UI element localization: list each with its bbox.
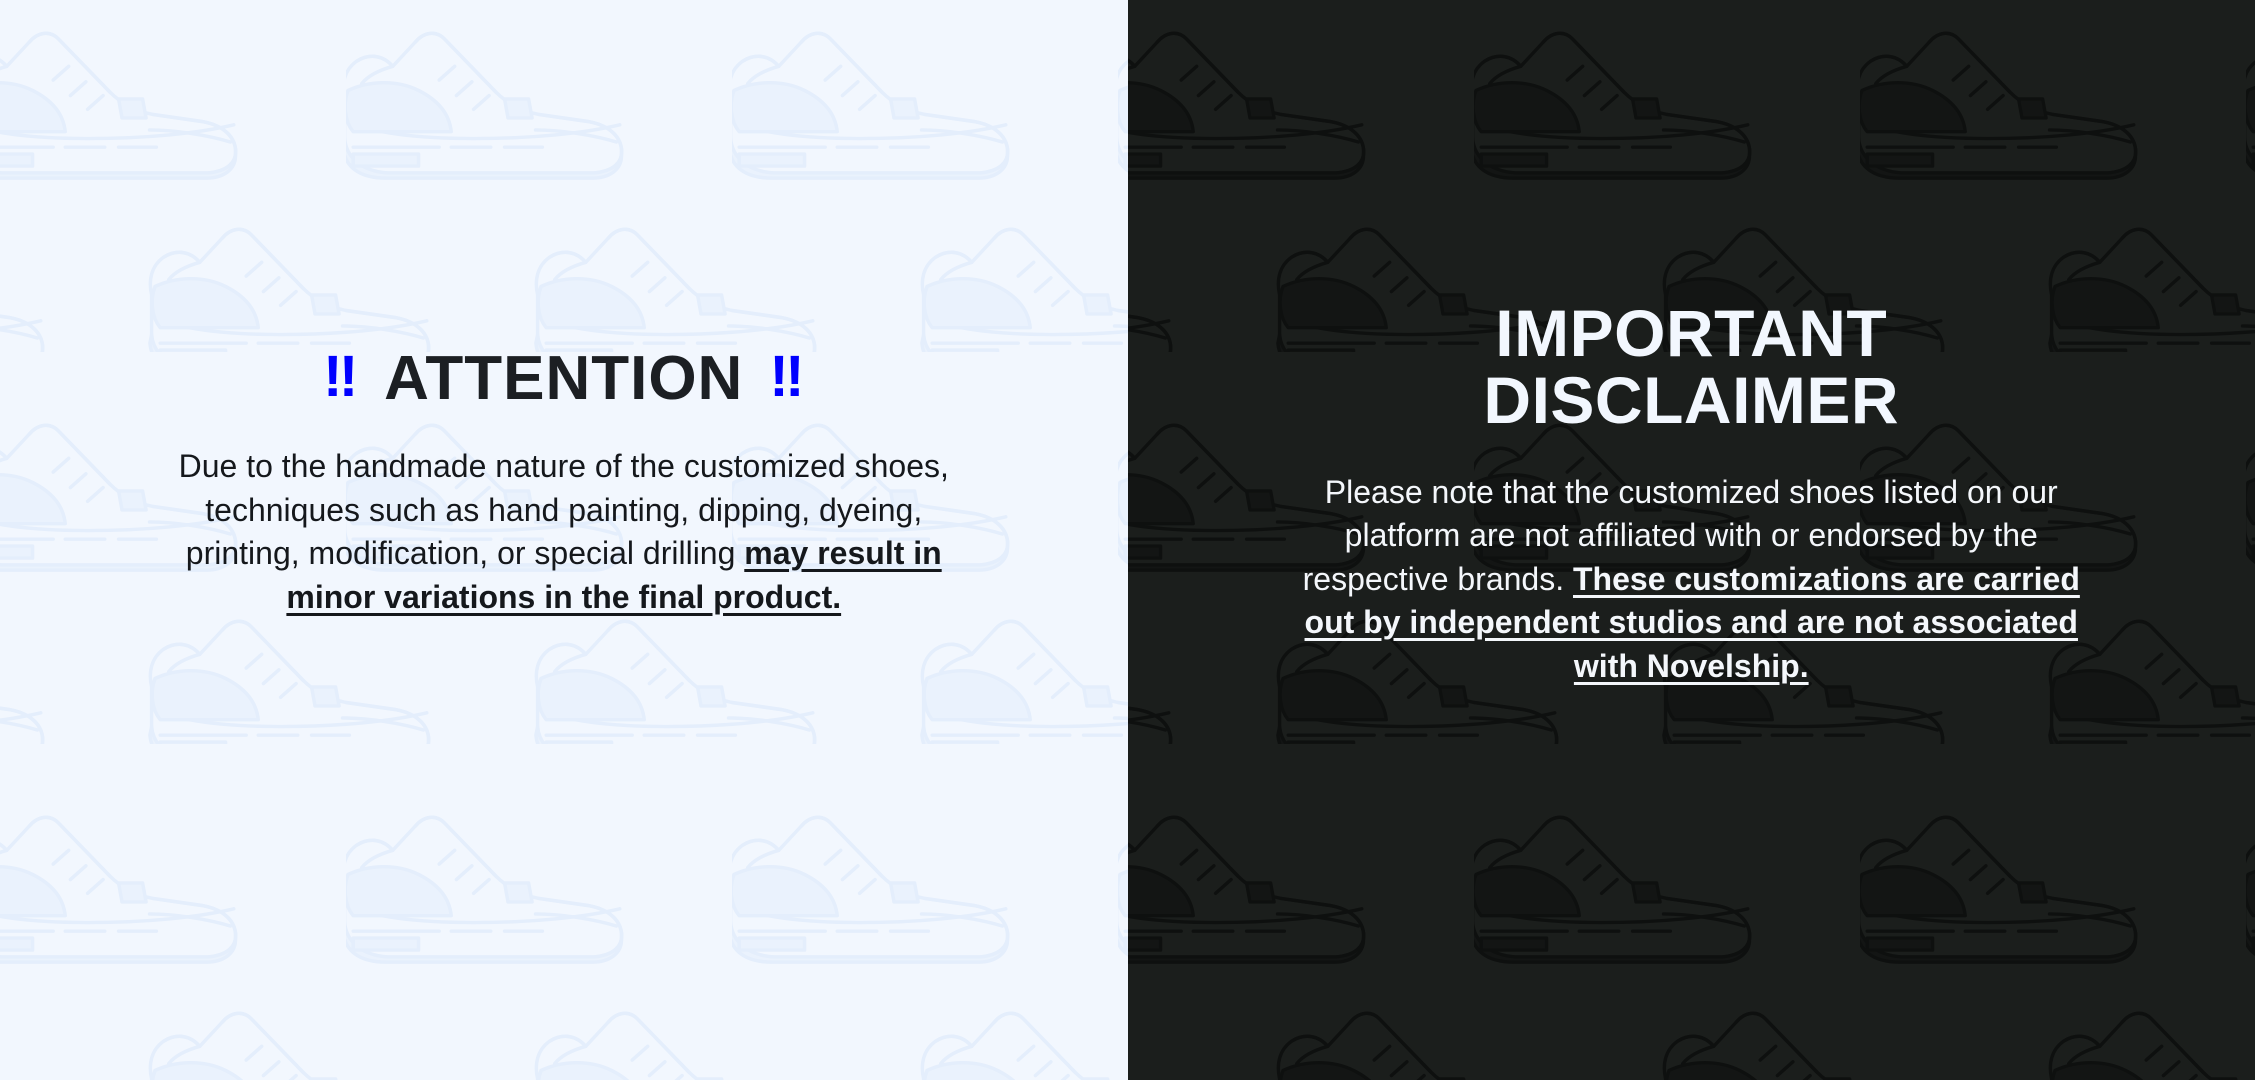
attention-heading: ‼ ATTENTION ‼: [130, 348, 998, 410]
disclaimer-content: IMPORTANT DISCLAIMER Please note that th…: [1128, 0, 2255, 688]
disclaimer-heading-line1: IMPORTANT: [1495, 296, 1887, 370]
disclaimer-heading: IMPORTANT DISCLAIMER: [1331, 300, 2051, 435]
disclaimer-body: Please note that the customized shoes li…: [1285, 471, 2097, 689]
attention-body: Due to the handmade nature of the custom…: [164, 445, 964, 619]
attention-content: ‼ ATTENTION ‼ Due to the handmade nature…: [0, 0, 1128, 619]
attention-disclaimer-banner: ‼ ATTENTION ‼ Due to the handmade nature…: [0, 0, 2255, 1080]
attention-panel: ‼ ATTENTION ‼ Due to the handmade nature…: [0, 0, 1128, 1080]
attention-heading-label: ATTENTION: [384, 348, 743, 410]
disclaimer-heading-line2: DISCLAIMER: [1483, 363, 1899, 437]
double-exclamation-icon-left: ‼: [323, 348, 358, 406]
double-exclamation-icon-right: ‼: [769, 348, 804, 406]
disclaimer-panel: IMPORTANT DISCLAIMER Please note that th…: [1128, 0, 2255, 1080]
